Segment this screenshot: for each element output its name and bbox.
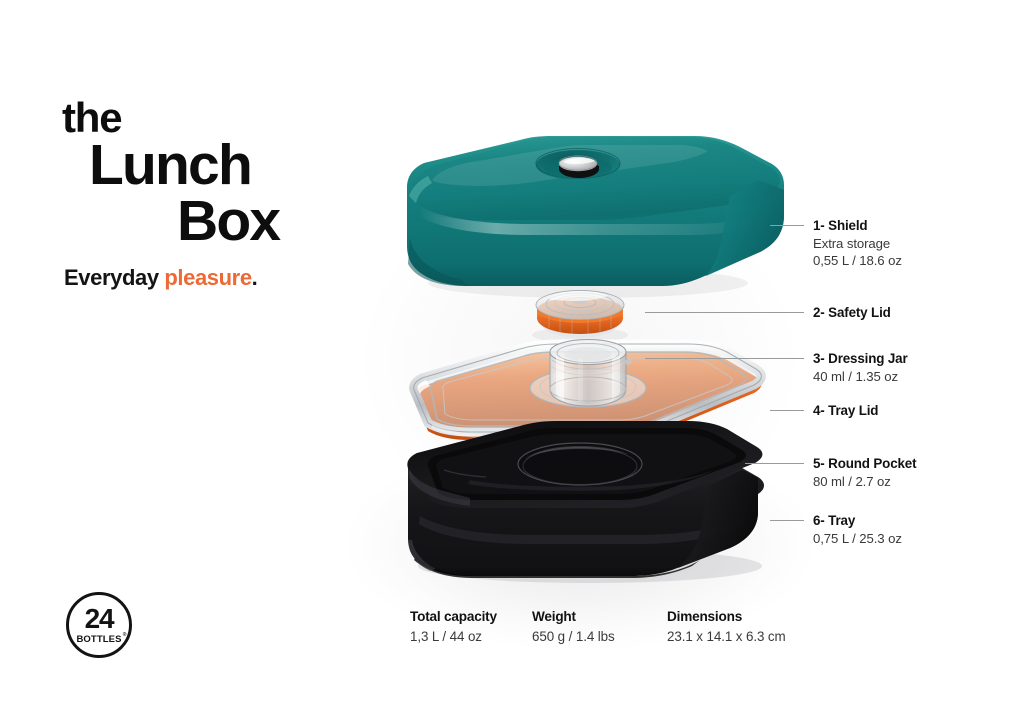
spec-dimensions: Dimensions 23.1 x 14.1 x 6.3 cm <box>667 608 847 646</box>
brand-logo[interactable]: 24 BOTTLES® <box>66 592 132 658</box>
tagline-dot: . <box>252 265 258 290</box>
callout-3-title: 3- Dressing Jar <box>813 350 908 368</box>
callout-tray: 6- Tray 0,75 L / 25.3 oz <box>813 512 902 547</box>
leader-line-3 <box>645 358 804 359</box>
callout-5-title: 5- Round Pocket <box>813 455 916 473</box>
logo-number: 24 <box>85 605 114 633</box>
registered-mark-icon: ® <box>123 633 127 638</box>
product-infographic: the Lunch Box Everyday pleasure. 24 BOTT… <box>0 0 1024 724</box>
spec-2-value: 23.1 x 14.1 x 6.3 cm <box>667 628 847 646</box>
logo-wordmark: BOTTLES® <box>76 635 121 645</box>
callout-safety-lid: 2- Safety Lid <box>813 304 891 322</box>
callout-tray-lid: 4- Tray Lid <box>813 402 878 420</box>
brand-title-block: the Lunch Box Everyday pleasure. <box>62 98 392 291</box>
part-tray <box>407 421 764 583</box>
callout-6-title: 6- Tray <box>813 512 902 530</box>
callout-6-sub1: 0,75 L / 25.3 oz <box>813 530 902 548</box>
specifications-row: Total capacity 1,3 L / 44 oz Weight 650 … <box>410 608 847 646</box>
spec-1-value: 650 g / 1.4 lbs <box>532 628 667 646</box>
ambient-shadow-upper <box>330 150 850 570</box>
callout-round-pocket: 5- Round Pocket 80 ml / 2.7 oz <box>813 455 916 490</box>
spec-2-label: Dimensions <box>667 608 847 626</box>
leader-line-5 <box>745 463 804 464</box>
spec-total-capacity: Total capacity 1,3 L / 44 oz <box>410 608 532 646</box>
tagline-prefix: Everyday <box>64 265 164 290</box>
callout-shield: 1- Shield Extra storage 0,55 L / 18.6 oz <box>813 217 902 270</box>
spec-1-label: Weight <box>532 608 667 626</box>
callout-5-sub1: 80 ml / 2.7 oz <box>813 473 916 491</box>
part-round-pocket <box>518 443 642 485</box>
logo-wordmark-text: BOTTLES <box>76 634 121 645</box>
leader-line-2 <box>645 312 804 313</box>
title-line-box: Box <box>177 195 392 249</box>
title-line-lunch: Lunch <box>89 139 392 193</box>
callout-1-sub1: Extra storage <box>813 235 902 253</box>
callout-4-title: 4- Tray Lid <box>813 402 878 420</box>
callout-3-sub1: 40 ml / 1.35 oz <box>813 368 908 386</box>
leader-line-6 <box>770 520 804 521</box>
callout-2-title: 2- Safety Lid <box>813 304 891 322</box>
callout-dressing-jar: 3- Dressing Jar 40 ml / 1.35 oz <box>813 350 908 385</box>
part-shield <box>407 136 784 298</box>
callout-1-sub2: 0,55 L / 18.6 oz <box>813 252 902 270</box>
leader-line-4 <box>770 410 804 411</box>
leader-line-1 <box>770 225 804 226</box>
spec-0-value: 1,3 L / 44 oz <box>410 628 532 646</box>
tagline-accent: pleasure <box>164 265 251 290</box>
spec-weight: Weight 650 g / 1.4 lbs <box>532 608 667 646</box>
part-dressing-jar <box>550 340 632 407</box>
callout-1-title: 1- Shield <box>813 217 902 235</box>
brand-tagline: Everyday pleasure. <box>64 265 392 291</box>
part-safety-lid <box>532 291 628 344</box>
title-line-the: the <box>62 98 392 137</box>
spec-0-label: Total capacity <box>410 608 532 626</box>
